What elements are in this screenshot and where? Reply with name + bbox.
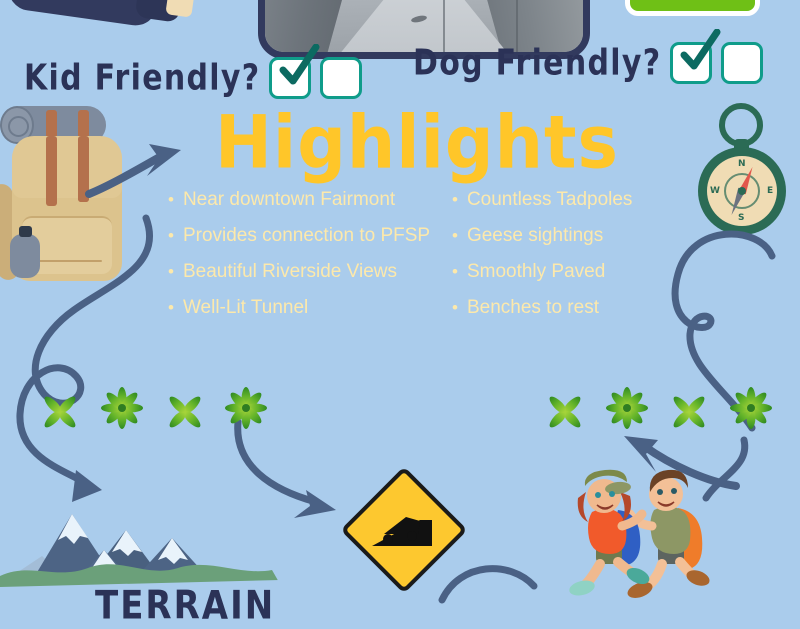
dog-friendly-yes-checkbox[interactable] xyxy=(670,42,712,84)
flower-core xyxy=(747,404,755,412)
flower-decoration xyxy=(163,390,207,434)
list-item: • Well-Lit Tunnel xyxy=(168,298,453,317)
dog-friendly-no-checkbox[interactable] xyxy=(721,42,763,84)
list-item-label: Smoothly Paved xyxy=(467,262,605,281)
compass-label-north: N xyxy=(738,159,746,169)
mountains-svg xyxy=(0,492,280,597)
bullet-marker: • xyxy=(168,263,174,280)
bullet-marker: • xyxy=(452,299,458,316)
list-item-label: Near downtown Fairmont xyxy=(183,190,395,209)
hiker-girl xyxy=(568,470,652,598)
dog-friendly-label: Dog Friendly? xyxy=(413,42,661,83)
checkmark-icon xyxy=(676,29,722,75)
list-item-label: Geese sightings xyxy=(467,226,603,245)
steep-grade-road-sign-icon xyxy=(352,478,456,582)
list-item-label: Beautiful Riverside Views xyxy=(183,262,397,281)
list-item: • Provides connection to PFSP xyxy=(168,226,453,245)
bullet-marker: • xyxy=(452,191,458,208)
curved-arrow-right-icon xyxy=(85,128,195,198)
list-item-label: Provides connection to PFSP xyxy=(183,226,430,245)
flower-decoration xyxy=(100,386,144,430)
hikers-svg xyxy=(566,464,738,600)
sleeping-roll-swirl xyxy=(8,116,29,137)
green-badge xyxy=(625,0,760,16)
compass-pivot xyxy=(738,187,746,195)
flower-decoration xyxy=(38,390,82,434)
flower-petal xyxy=(167,409,188,430)
backpack-strap xyxy=(46,136,57,206)
decorative-squiggle-left xyxy=(14,218,164,508)
hiking-kids-illustration xyxy=(566,464,738,600)
flower-decoration xyxy=(543,390,587,434)
binocular-icon xyxy=(0,0,190,30)
flower-decoration xyxy=(605,386,649,430)
flower-petal xyxy=(671,409,692,430)
compass-label-south: S xyxy=(738,213,744,223)
bullet-marker: • xyxy=(168,227,174,244)
page-title: Highlights xyxy=(202,107,632,180)
mountains-icon xyxy=(0,492,280,597)
flower-core xyxy=(623,404,631,412)
compass-label-west: W xyxy=(710,186,720,196)
terrain-section-title: TERRAIN xyxy=(95,583,275,629)
flower-decoration xyxy=(729,386,773,430)
flower-decoration xyxy=(224,386,268,430)
flower-petal xyxy=(42,409,63,430)
kid-friendly-yes-checkbox[interactable] xyxy=(269,57,311,99)
flower-petal xyxy=(547,409,568,430)
kid-friendly-no-checkbox[interactable] xyxy=(320,57,362,99)
bullet-marker: • xyxy=(452,227,458,244)
list-item: • Beautiful Riverside Views xyxy=(168,262,453,281)
list-item-label: Countless Tadpoles xyxy=(467,190,632,209)
truck-on-hill-glyph xyxy=(372,512,436,550)
list-item: • Countless Tadpoles xyxy=(452,190,712,209)
bullet-marker: • xyxy=(452,263,458,280)
flower-core xyxy=(118,404,126,412)
list-item: • Near downtown Fairmont xyxy=(168,190,453,209)
highlights-left-column: • Near downtown Fairmont • Provides conn… xyxy=(168,190,453,334)
list-item-label: Well-Lit Tunnel xyxy=(183,298,308,317)
list-item-label: Benches to rest xyxy=(467,298,599,317)
flower-core xyxy=(242,404,250,412)
dog-friendly-row: Dog Friendly? xyxy=(413,42,763,84)
flower-decoration xyxy=(667,390,711,434)
compass-icon: N E S W xyxy=(693,103,791,238)
bullet-marker: • xyxy=(168,299,174,316)
compass-label-east: E xyxy=(767,186,773,196)
